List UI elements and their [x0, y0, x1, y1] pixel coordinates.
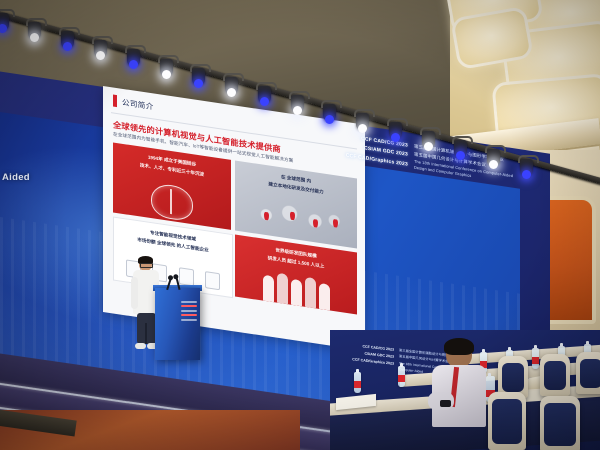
- spotlight-yoke: [518, 155, 539, 163]
- spotlight-yoke: [223, 73, 244, 81]
- podium-text-line: [181, 319, 197, 321]
- stage-spotlight: [0, 13, 9, 30]
- podium-branding: [181, 298, 197, 324]
- stage-spotlight: [160, 59, 173, 76]
- person-silhouette: [263, 275, 274, 303]
- stage-spotlight: [258, 86, 271, 103]
- backdrop-acronyms: CCF CAD/CG 2023 CSIAM GDC 2023 CCF CAD/G…: [346, 342, 394, 372]
- spotlight-yoke: [289, 91, 310, 99]
- stage-spotlight: [28, 22, 41, 39]
- white-light-icon: [293, 106, 302, 115]
- spotlight-yoke: [321, 100, 342, 108]
- phone-icon: [440, 400, 451, 407]
- stage-spotlight: [487, 149, 500, 166]
- chip-icon: [205, 271, 220, 290]
- podium-text-line: [181, 314, 197, 316]
- podium-text-line: [181, 305, 197, 307]
- slide-cell-text: 专注智能视觉技术领域市场份额 全球领先 的人工智能企业: [114, 224, 232, 259]
- slide-tag-label: 公司简介: [122, 96, 154, 112]
- person-silhouette: [277, 273, 288, 305]
- attendee-hair: [444, 338, 474, 355]
- person-silhouette: [291, 279, 302, 307]
- map-pin-icon: [290, 211, 295, 220]
- world-map-icon: [243, 194, 349, 242]
- slide-section-tag: 公司简介: [113, 94, 154, 112]
- spotlight-yoke: [190, 64, 211, 72]
- spotlight-yoke: [485, 145, 506, 153]
- blue-light-icon: [194, 79, 203, 88]
- spotlight-yoke: [125, 45, 146, 53]
- stage-spotlight: [422, 131, 435, 148]
- person-silhouette: [305, 277, 316, 309]
- stage-spotlight: [520, 159, 533, 176]
- stage-spotlight: [291, 95, 304, 112]
- stage-spotlight: [454, 140, 467, 157]
- stage-spotlight: [225, 77, 238, 94]
- conference-hall-photo: 公司简介 全球领先的计算机视觉与人工智能技术提供商 在全球范围内为智能手机、智能…: [0, 0, 600, 450]
- stage-spotlight: [192, 68, 205, 85]
- stage-spotlight: [127, 49, 140, 66]
- speaker-podium: [155, 288, 200, 360]
- water-bottle: [398, 366, 405, 387]
- slide-cell-founding: 1994年 成立于美国硅谷技术、人才、专利近三十年沉淀: [113, 142, 231, 229]
- spotlight-yoke: [452, 136, 473, 144]
- audience-chair: [576, 352, 600, 394]
- blue-light-icon: [522, 170, 531, 179]
- map-pin-icon: [333, 219, 338, 228]
- audience-chair: [488, 392, 526, 450]
- spotlight-yoke: [420, 127, 441, 135]
- water-bottle: [354, 372, 361, 393]
- glasses-icon: [140, 263, 153, 268]
- spotlight-yoke: [92, 36, 113, 44]
- slide-cell-talent: 世界级研发团队规模研发人员 超过 1,500 人以上: [235, 234, 357, 314]
- stage-spotlight: [61, 31, 74, 48]
- presenter-shoe: [135, 343, 146, 349]
- presenter-arm: [131, 277, 138, 309]
- spotlight-yoke: [256, 82, 277, 90]
- red-accent-bar: [113, 94, 117, 107]
- map-pin-icon: [264, 212, 269, 221]
- spotlight-yoke: [0, 9, 15, 17]
- spotlight-yoke: [354, 109, 375, 117]
- stage-spotlight: [356, 113, 369, 130]
- spotlight-yoke: [158, 55, 179, 63]
- blue-light-icon: [260, 97, 269, 106]
- slide-cell-text: 1994年 成立于美国硅谷技术、人才、专利近三十年沉淀: [113, 148, 231, 183]
- audience-attendee: [430, 340, 490, 450]
- spotlight-yoke: [59, 27, 80, 35]
- audience-chair: [540, 396, 580, 450]
- slide-cell-global: 在 全球范围 内建立本地化研发及交付能力: [235, 160, 357, 248]
- stage-spotlight: [94, 40, 107, 57]
- blue-light-icon: [391, 133, 400, 142]
- brain-icon: [151, 182, 193, 222]
- podium-text-line: [181, 301, 197, 303]
- person-silhouette: [319, 283, 330, 311]
- podium-text-line: [181, 310, 197, 312]
- water-bottle: [532, 348, 539, 369]
- camera-icon: [179, 267, 194, 286]
- spotlight-yoke: [26, 18, 47, 26]
- stage-spotlight: [323, 104, 336, 121]
- presenter-shorts: [137, 313, 156, 344]
- white-light-icon: [162, 70, 171, 79]
- stage-spotlight: [389, 122, 402, 139]
- map-pin-icon: [313, 219, 318, 228]
- left-edge-text: Aided: [2, 172, 30, 183]
- spotlight-yoke: [387, 118, 408, 126]
- audience-chair: [540, 354, 570, 396]
- white-light-icon: [227, 88, 236, 97]
- white-light-icon: [424, 142, 433, 151]
